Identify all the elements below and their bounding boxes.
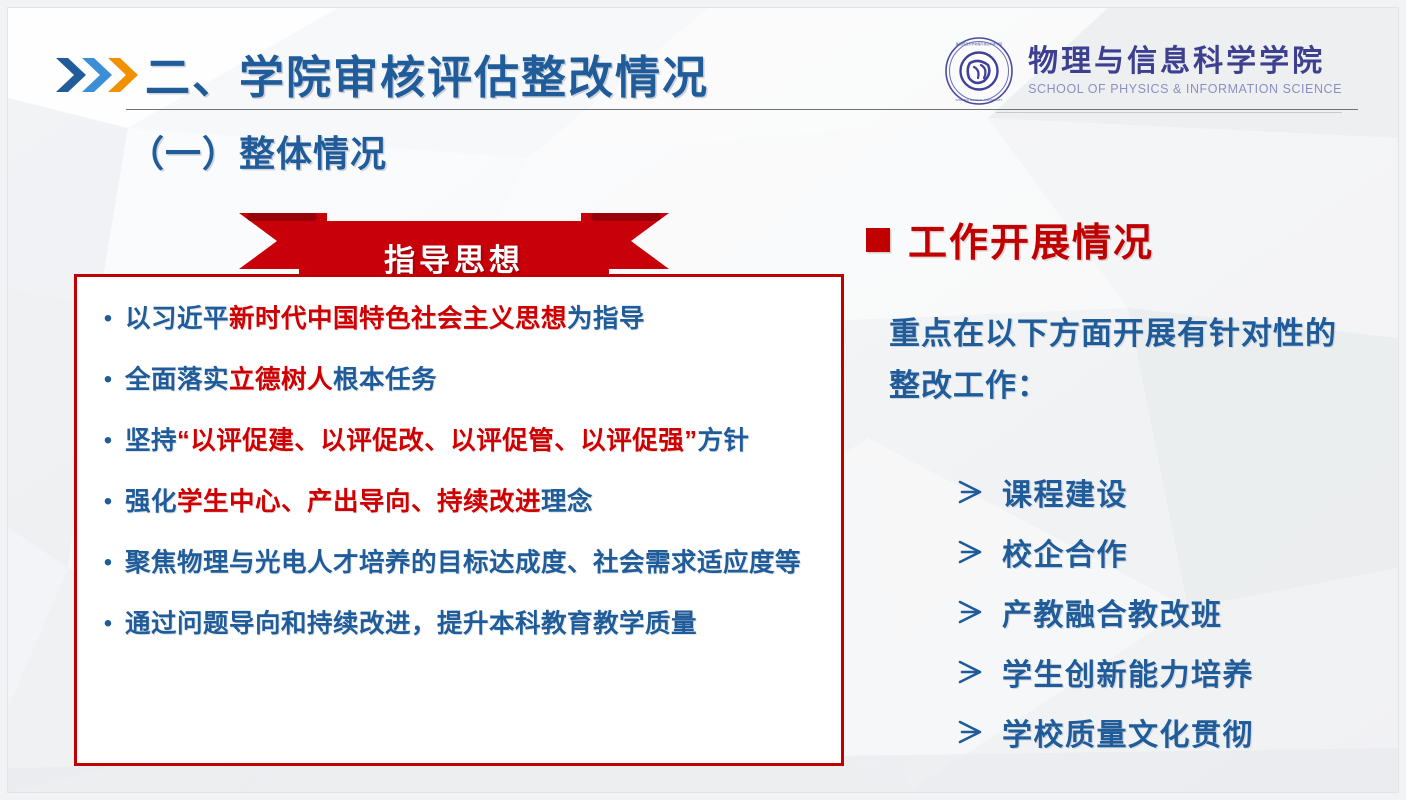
- bullet-dot-icon: •: [91, 604, 125, 644]
- work-area-item: 产教融合教改班: [952, 590, 1372, 634]
- work-progress-paragraph: 重点在以下方面开展有针对性的整改工作：: [889, 308, 1344, 412]
- bullet-dot-icon: •: [91, 482, 125, 522]
- bullet-dot-icon: •: [91, 543, 125, 583]
- text-segment: 根本任务: [333, 366, 437, 394]
- school-name-en: SCHOOL OF PHYSICS & INFORMATION SCIENCE: [1028, 82, 1342, 96]
- work-area-label: 学校质量文化贯彻: [1002, 710, 1254, 754]
- text-segment: 学生中心、产出导向、持续改进: [177, 488, 541, 516]
- bullet-dot-icon: •: [91, 299, 125, 339]
- work-area-label: 校企合作: [1002, 530, 1128, 574]
- arrow-right-icon: [952, 477, 1002, 507]
- work-progress-heading-text: 工作开展情况: [908, 212, 1154, 268]
- work-progress-heading: 工作开展情况: [866, 212, 1154, 268]
- bullet-dot-icon: •: [91, 421, 125, 461]
- list-item: •通过问题导向和持续改进，提升本科教育教学质量: [91, 604, 823, 644]
- svg-text:陕西师范大学物理与信息科学学院: 陕西师范大学物理与信息科学学院: [956, 41, 1002, 46]
- list-item: •聚焦物理与光电人才培养的目标达成度、社会需求适应度等: [91, 543, 823, 583]
- text-segment: “以评促建、以评促改、以评促管、以评促强”: [177, 427, 698, 455]
- work-area-label: 课程建设: [1002, 470, 1128, 514]
- text-segment: 理念: [541, 488, 593, 516]
- school-logo: 陕西师范大学物理与信息科学学院 SHAANXI NORMAL UNIVERSIT…: [944, 36, 1342, 106]
- page-subtitle: （一）整体情况: [128, 125, 387, 177]
- square-bullet-icon: [866, 228, 890, 252]
- arrow-right-icon: [952, 597, 1002, 627]
- page-title: 二、学院审核评估整改情况: [145, 41, 709, 106]
- bullet-dot-icon: •: [91, 360, 125, 400]
- work-area-label: 学生创新能力培养: [1002, 650, 1254, 694]
- arrow-right-icon: [952, 657, 1002, 687]
- svg-text:SHAANXI NORMAL UNIVERSITY: SHAANXI NORMAL UNIVERSITY: [956, 98, 1003, 102]
- list-item-text: 强化学生中心、产出导向、持续改进理念: [125, 482, 593, 522]
- text-segment: 立德树人: [229, 366, 333, 394]
- list-item-text: 聚焦物理与光电人才培养的目标达成度、社会需求适应度等: [125, 543, 801, 583]
- work-area-item: 学生创新能力培养: [952, 650, 1372, 694]
- guiding-ideology-list: •以习近平新时代中国特色社会主义思想为指导•全面落实立德树人根本任务•坚持“以评…: [77, 299, 841, 665]
- list-item-text: 坚持“以评促建、以评促改、以评促管、以评促强”方针: [125, 421, 750, 461]
- text-segment: 强化: [125, 488, 177, 516]
- work-area-item: 校企合作: [952, 530, 1372, 574]
- text-segment: 聚焦物理与光电人才培养的目标达成度、社会需求适应度等: [125, 549, 801, 577]
- guiding-ideology-box: •以习近平新时代中国特色社会主义思想为指导•全面落实立德树人根本任务•坚持“以评…: [74, 274, 844, 766]
- work-area-item: 学校质量文化贯彻: [952, 710, 1372, 754]
- arrow-right-icon: [952, 537, 1002, 567]
- list-item: •强化学生中心、产出导向、持续改进理念: [91, 482, 823, 522]
- list-item-text: 通过问题导向和持续改进，提升本科教育教学质量: [125, 604, 697, 644]
- text-segment: 新时代中国特色社会主义思想: [229, 305, 567, 333]
- slide-canvas: 二、学院审核评估整改情况 （一）整体情况 陕西师范大学物理与信息科学学院 SHA…: [8, 8, 1398, 792]
- work-area-label: 产教融合教改班: [1002, 590, 1223, 634]
- text-segment: 通过问题导向和持续改进，提升本科教育教学质量: [125, 610, 697, 638]
- text-segment: 为指导: [567, 305, 645, 333]
- list-item-text: 以习近平新时代中国特色社会主义思想为指导: [125, 299, 645, 339]
- text-segment: 坚持: [125, 427, 177, 455]
- school-seal-icon: 陕西师范大学物理与信息科学学院 SHAANXI NORMAL UNIVERSIT…: [944, 36, 1014, 106]
- list-item-text: 全面落实立德树人根本任务: [125, 360, 437, 400]
- text-segment: 全面落实: [125, 366, 229, 394]
- logo-divider: [996, 112, 1342, 113]
- slide-root: 二、学院审核评估整改情况 （一）整体情况 陕西师范大学物理与信息科学学院 SHA…: [0, 0, 1406, 800]
- text-segment: 方针: [698, 427, 750, 455]
- text-segment: 以习近平: [125, 305, 229, 333]
- list-item: •坚持“以评促建、以评促改、以评促管、以评促强”方针: [91, 421, 823, 461]
- work-area-item: 课程建设: [952, 470, 1372, 514]
- list-item: •全面落实立德树人根本任务: [91, 360, 823, 400]
- list-item: •以习近平新时代中国特色社会主义思想为指导: [91, 299, 823, 339]
- arrow-right-icon: [952, 717, 1002, 747]
- header-divider: [126, 109, 1358, 110]
- school-logo-text: 物理与信息科学学院 SCHOOL OF PHYSICS & INFORMATIO…: [1028, 46, 1342, 95]
- chevron-triple-icon: [54, 52, 138, 98]
- school-name-cn: 物理与信息科学学院: [1028, 46, 1342, 78]
- work-areas-list: 课程建设校企合作产教融合教改班学生创新能力培养学校质量文化贯彻: [952, 470, 1372, 770]
